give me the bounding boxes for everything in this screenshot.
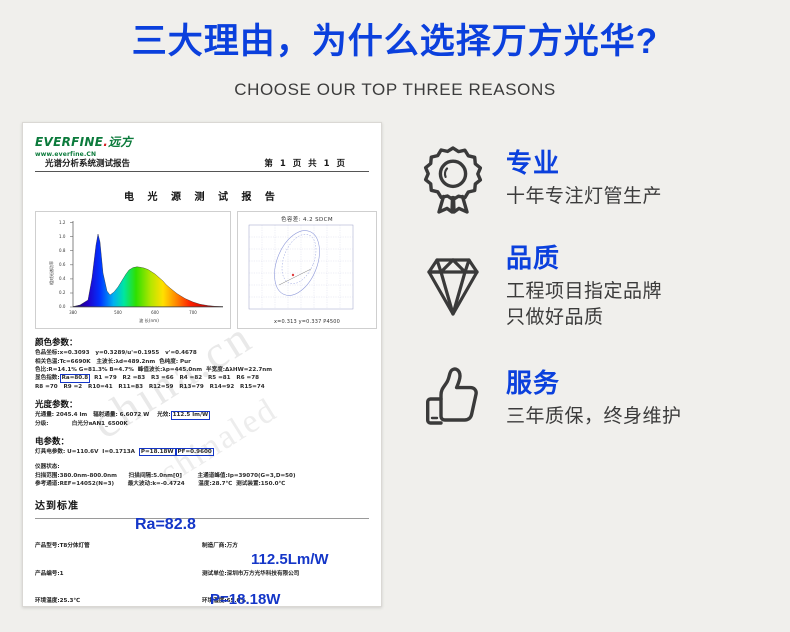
svg-text:0.0: 0.0 [59,304,66,309]
report-main-title: 电 光 源 测 试 报 告 [35,188,369,203]
ambient-temperature: 环境温度:25.3℃ [35,597,202,606]
report-column: china.cn chinaled EVERFINE.远方 www.everfi… [0,122,400,607]
svg-text:1.2: 1.2 [59,220,66,225]
svg-text:600: 600 [151,310,159,315]
svg-text:1.0: 1.0 [59,234,66,239]
page-subtitle: CHOOSE OUR TOP THREE REASONS [0,80,790,100]
annotation-power-factor: PF=0.9600 [321,605,382,607]
report-doc-type: 光谱分析系统测试报告 [45,157,130,169]
cie-chart: 色容差: 4.2 SDCM [237,211,377,329]
feature-desc-professional: 十年专注灯管生产 [506,184,662,210]
annotation-efficacy: 112.5Lm/W [251,551,329,568]
feature-text-professional: 专业 十年专注灯管生产 [496,149,662,209]
feature-item-professional: 专业 十年专注灯管生产 [410,136,790,222]
feature-title-quality: 品质 [506,244,662,273]
instrument-status-line-2: 参考通道:REF=14052(N=3) 最大波动:k=-0.4724 温度:28… [35,480,369,488]
feature-text-service: 服务 三年质保，终身维护 [496,369,682,429]
photometric-parameters-heading: 光度参数： [35,398,369,410]
thumbs-up-icon [410,356,496,442]
diamond-icon [410,244,496,330]
svg-text:700: 700 [189,310,197,315]
report-brand: EVERFINE.远方 www.everfine.CN [35,133,369,155]
color-parameters-line-5: R8 =70 R9 =2 R10=41 R11=83 R12=59 R13=79… [35,383,369,391]
annotation-ra: Ra=82.8 [135,516,196,534]
test-report-card: china.cn chinaled EVERFINE.远方 www.everfi… [22,122,382,607]
medal-ribbon-icon [410,136,496,222]
features-column: 专业 十年专注灯管生产 品质 工程项目指定品牌只做好品质 [400,122,790,607]
annotation-power: P=18.18W [210,591,280,607]
spd-chart-svg: 1.2 1.0 0.8 0.6 0.4 0.2 0.0 相对光谱功率 380 [39,215,227,325]
color-parameters-line-2: 相关色温:Tc=6690K 主波长:λd=489.2nm 色纯度: Pur [35,358,369,366]
product-serial: 产品编号:1 [35,570,202,579]
feature-title-service: 服务 [506,369,682,398]
power-value-box: P=18.18W [139,448,176,456]
color-parameters-line-3: 色比:R=14.1% G=81.3% B=4.7% 峰值波长:λp=445.0n… [35,366,369,374]
brand-name-text: EVERFINE [35,135,103,149]
page-header: 三大理由，为什么选择万方光华? CHOOSE OUR TOP THREE REA… [0,0,790,100]
photometric-parameters-section: 光度参数： 光通量: 2045.4 lm 辐射通量: 6.6072 W 光效:1… [35,398,369,428]
power-factor-value-box: PF=0.9600 [176,448,214,456]
electric-parameters-heading: 电参数： [35,435,369,447]
svg-text:0.6: 0.6 [59,262,66,267]
feature-desc-service: 三年质保，终身维护 [506,404,682,430]
color-parameters-line-4: 显色指数:Ra=80.8 R1 =79 R2 =83 R3 =66 R4 =82… [35,374,369,382]
report-header-line: 光谱分析系统测试报告 第 1 页 共 1 页 [35,155,369,172]
test-organization: 测试单位:深圳市万方光华科技有限公司 [202,570,369,579]
photometric-parameters-line-2: 分级: 白光分яAN1_6500K [35,420,369,428]
svg-text:500: 500 [114,310,122,315]
verdict-label: 达到标准 [35,497,369,512]
instrument-status-section: 仪器状态: 扫描范围:380.0nm-800.0nm 扫描间隔:5.0nm[0]… [35,463,369,488]
svg-text:相对光谱功率: 相对光谱功率 [48,261,54,285]
divider [35,518,369,519]
product-info-left: 产品型号:T8分体灯管 产品编号:1 环境温度:25.3℃ 测试人员:郭毅 软件… [35,524,202,608]
report-page-count: 第 1 页 共 1 页 [264,157,347,169]
feature-item-service: 服务 三年质保，终身维护 [410,356,790,442]
product-model: 产品型号:T8分体灯管 [35,542,202,551]
instrument-status-heading: 仪器状态: [35,463,369,471]
svg-text:波 长(nm): 波 长(nm) [139,317,159,324]
photometric-parameters-line-1: 光通量: 2045.4 lm 辐射通量: 6.6072 W 光效:112.5 l… [35,411,369,419]
brand-logo: EVERFINE.远方 [35,133,369,150]
spd-chart: 1.2 1.0 0.8 0.6 0.4 0.2 0.0 相对光谱功率 380 [35,211,231,329]
ra-value-box: Ra=80.8 [60,374,91,382]
feature-text-quality: 品质 工程项目指定品牌只做好品质 [496,244,662,330]
feature-item-quality: 品质 工程项目指定品牌只做好品质 [410,244,790,330]
efficacy-value-box: 112.5 lm/W [171,411,211,419]
svg-text:0.2: 0.2 [59,290,66,295]
page-title: 三大理由，为什么选择万方光华? [0,22,790,62]
report-charts: 1.2 1.0 0.8 0.6 0.4 0.2 0.0 相对光谱功率 380 [35,211,369,329]
brand-cn-text: 远方 [108,135,133,149]
feature-desc-quality: 工程项目指定品牌只做好品质 [506,279,662,330]
cie-chart-svg [241,223,373,315]
svg-text:0.8: 0.8 [59,248,66,253]
electric-parameters-section: 电参数： 灯具电参数: U=110.6V I=0.1713A P=18.18WP… [35,435,369,456]
instrument-status-line-1: 扫描范围:380.0nm-800.0nm 扫描间隔:5.0nm[0] 主通道峰值… [35,472,369,480]
feature-title-professional: 专业 [506,149,662,178]
svg-text:380: 380 [69,310,77,315]
electric-parameters-line-1: 灯具电参数: U=110.6V I=0.1713A P=18.18WPF=0.9… [35,448,369,456]
color-parameters-line-1: 色品坐标:x=0.3093 y=0.3289/u'=0.1955 v'=0.46… [35,349,369,357]
color-parameters-heading: 颜色参数： [35,336,369,348]
content-area: china.cn chinaled EVERFINE.远方 www.everfi… [0,122,790,607]
svg-text:0.4: 0.4 [59,276,66,281]
manufacturer: 制造厂商:万方 [202,542,369,551]
cie-chart-caption: 色容差: 4.2 SDCM [241,215,373,223]
color-parameters-section: 颜色参数： 色品坐标:x=0.3093 y=0.3289/u'=0.1955 v… [35,336,369,391]
cie-chart-footer: x=0.313 y=0.337 P4500 [241,319,373,325]
